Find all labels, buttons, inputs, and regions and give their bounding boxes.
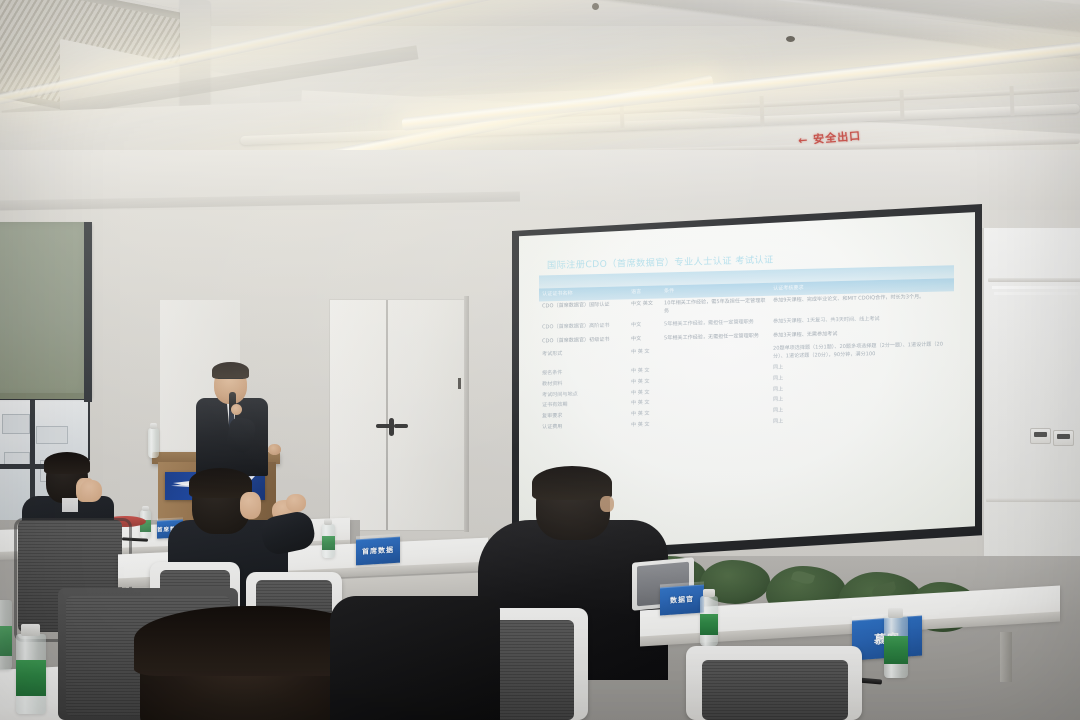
bottle-label [700, 614, 718, 635]
name-placard: 数据官 [660, 584, 704, 615]
whiteboard-rail [986, 498, 1080, 502]
whiteboard-rail [988, 278, 1080, 282]
bottle-cap [703, 589, 715, 597]
door-stop [458, 378, 461, 389]
attendee-hand [80, 480, 102, 502]
attendee-torso [330, 596, 500, 720]
conference-room-photo: ← 安全出口 国际注册CDO（首席数据官）专业人士认证 考试 [0, 0, 1080, 720]
door-split-line [386, 300, 388, 530]
attendee-shirt-collar [62, 498, 78, 512]
bottle-label [16, 660, 46, 696]
bottle-label [0, 626, 12, 656]
bottle-cap [150, 423, 157, 429]
roller-blind[interactable] [0, 222, 92, 397]
bottle-cap [142, 506, 149, 511]
door-jamb [464, 296, 469, 532]
name-placard: 首席数据 [356, 537, 400, 566]
roller-blind-bottom-bar [0, 393, 92, 399]
eyeglasses [218, 378, 243, 384]
slide-table: 认证证书名称 语言 条件 认证考核要求 CDO（首席数据官）国际认证 中文 英文… [539, 278, 954, 433]
attendee-ear [600, 496, 614, 512]
ceiling-sensor [786, 36, 795, 42]
whiteboard-glare [992, 286, 1080, 289]
speaker-hair [212, 362, 249, 379]
door-handle[interactable] [389, 418, 394, 436]
bottle-label [322, 536, 335, 550]
table-leg [1000, 632, 1012, 682]
attendee-ear [240, 492, 261, 519]
wall-control-right[interactable] [1053, 430, 1074, 446]
attendee-hair [44, 452, 90, 474]
door-handle[interactable] [394, 424, 408, 428]
whiteboard [982, 228, 1080, 558]
bottle-cap [324, 519, 332, 525]
bottle-cap [888, 608, 903, 618]
whiteboard-glare [994, 292, 1078, 295]
office-chair-back [702, 660, 848, 720]
double-door[interactable] [330, 300, 465, 530]
sprinkler-head [592, 3, 599, 10]
speaker-hand [231, 404, 242, 415]
wall-control-left[interactable] [1030, 428, 1051, 444]
placard-text: 首席数据 [362, 545, 394, 557]
bottle-cap [21, 624, 40, 636]
bottle-label [884, 636, 908, 664]
speaker-hand [268, 444, 281, 455]
window-mullion [84, 222, 92, 402]
attendee-hand [286, 494, 306, 512]
water-bottle[interactable] [148, 428, 159, 458]
attendee-hair [532, 466, 612, 500]
placard-text: 数据官 [670, 594, 694, 606]
